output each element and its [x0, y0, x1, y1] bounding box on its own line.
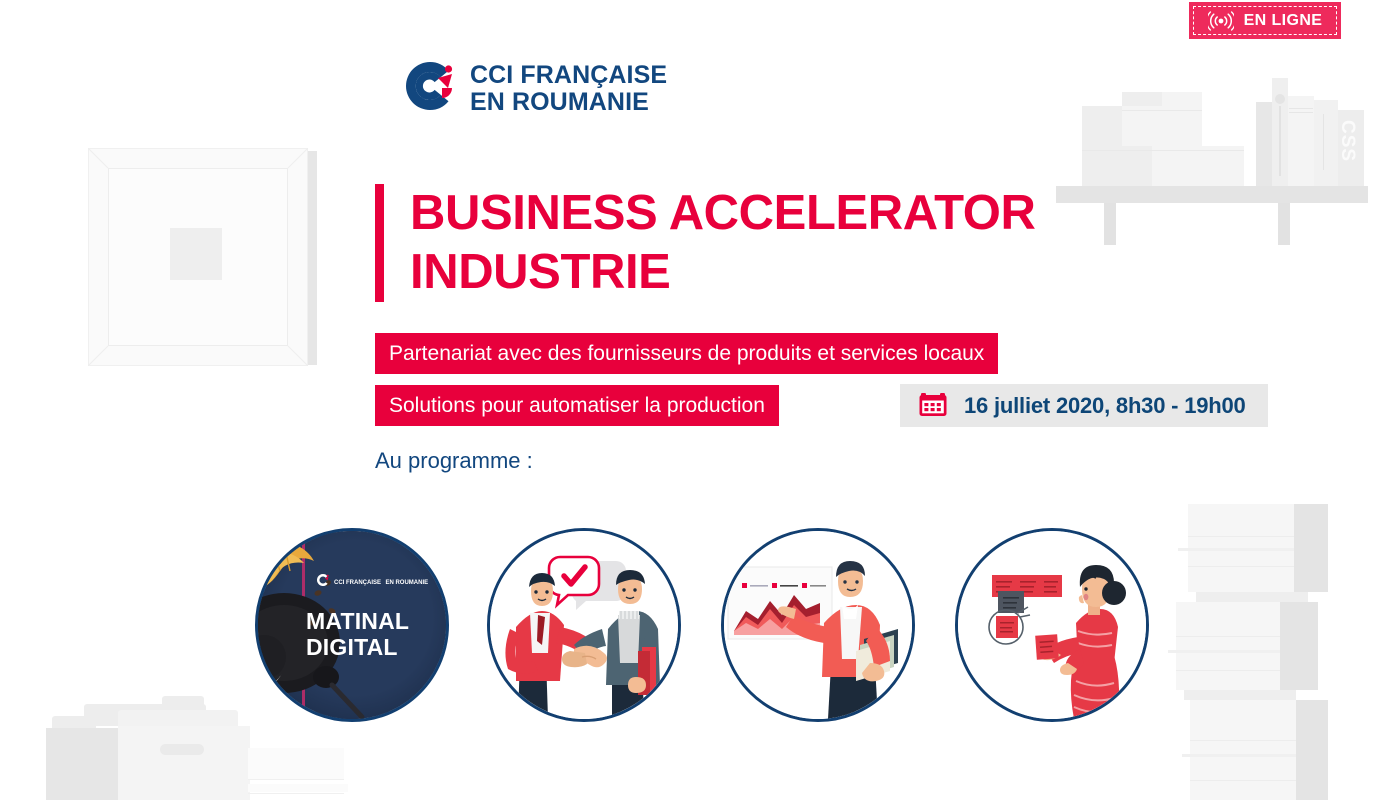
frame-outer [88, 148, 308, 366]
programme-circles: CCI FRANÇAISE EN ROUMANIE MATINAL DIGITA… [0, 508, 1400, 740]
banner-partenariat-text: Partenariat avec des fournisseurs de pro… [389, 342, 984, 366]
shelf-book [1272, 78, 1288, 186]
broadcast-icon [1208, 11, 1234, 31]
frame-inner-bevel [108, 168, 288, 346]
frame-bevel-lines [88, 148, 308, 366]
event-date-box: 16 julliet 2020, 8h30 - 19h00 [900, 384, 1268, 427]
file-box-handle [160, 744, 204, 755]
shelf-box-lid [1122, 92, 1162, 106]
programme-label: Au programme : [375, 448, 533, 474]
circle-matinal-digital: CCI FRANÇAISE EN ROUMANIE MATINAL DIGITA… [255, 528, 449, 722]
frame-side-edge [308, 151, 317, 365]
en-ligne-badge: EN LIGNE [1189, 2, 1341, 39]
matinal-logo-line2: EN ROUMANIE [385, 580, 428, 586]
calendar-icon [918, 388, 948, 423]
shelf-plank [1056, 186, 1368, 203]
presentation-illustration [724, 531, 912, 719]
shelf-box [1122, 92, 1202, 148]
cci-logo-line1: CCI FRANÇAISE [470, 62, 667, 88]
shelf-book-label: CSS [1336, 120, 1358, 162]
book-knob [1275, 94, 1285, 104]
banner-partenariat: Partenariat avec des fournisseurs de pro… [375, 333, 998, 374]
shelf-with-boxes-decoration: CSS [1056, 60, 1376, 250]
cci-logo-icon [402, 58, 458, 119]
banner-solutions-text: Solutions pour automatiser la production [389, 394, 765, 418]
banner-solutions: Solutions pour automatiser la production [375, 385, 779, 426]
shelf-book [1338, 110, 1364, 186]
cci-logo: CCI FRANÇAISE EN ROUMANIE [402, 58, 667, 119]
title-line1: BUSINESS ACCELERATOR [410, 184, 1035, 243]
shelf-book [1288, 96, 1314, 186]
cci-logo-icon-small [316, 573, 330, 587]
shelf-book [1256, 102, 1280, 186]
page-title: BUSINESS ACCELERATOR INDUSTRIE [375, 184, 1035, 302]
event-date-text: 16 julliet 2020, 8h30 - 19h00 [964, 393, 1246, 419]
matinal-title-line2: DIGITAL [306, 635, 409, 661]
shelf-book [1314, 100, 1338, 186]
sticky-notes-illustration [958, 531, 1146, 719]
handshake-illustration [490, 531, 678, 719]
title-line2: INDUSTRIE [410, 243, 1035, 302]
shelf-box [1152, 146, 1244, 186]
shelf-leg [1104, 203, 1116, 245]
matinal-cci-logo: CCI FRANÇAISE EN ROUMANIE [316, 571, 428, 589]
matinal-logo-line1: CCI FRANÇAISE [334, 580, 381, 586]
frame-center-square [170, 228, 222, 280]
en-ligne-label: EN LIGNE [1244, 12, 1323, 30]
title-accent-bar [375, 184, 384, 302]
cci-logo-line2: EN ROUMANIE [470, 89, 667, 115]
picture-frame-decoration [88, 148, 308, 366]
circle-presentation [721, 528, 915, 722]
shelf-box [1082, 106, 1122, 148]
circle-handshake [487, 528, 681, 722]
shelf-box [1082, 146, 1152, 186]
shelf-leg [1278, 203, 1290, 245]
matinal-title-line1: MATINAL [306, 609, 409, 635]
circle-sticky-notes [955, 528, 1149, 722]
shelf-box [1162, 106, 1202, 148]
